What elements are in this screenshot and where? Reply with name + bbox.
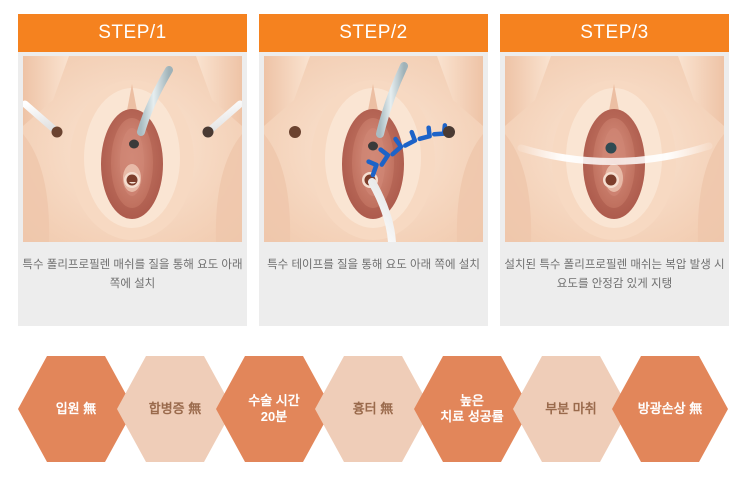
benefit-label-4: 흉터 無 [353, 401, 394, 417]
benefit-hexagon-5: 높은 치료 성공률 [414, 356, 530, 462]
benefit-hexagon-4: 흉터 無 [315, 356, 431, 462]
step1-anatomy-illustration [23, 56, 242, 242]
benefit-label-1: 입원 無 [56, 401, 97, 417]
step-header-2: STEP/2 [259, 14, 488, 52]
benefit-label-6: 부분 마취 [545, 401, 596, 417]
step-header-1: STEP/1 [18, 14, 247, 52]
benefit-label-7: 방광손상 無 [638, 401, 702, 417]
benefit-hexagon-3: 수술 시간 20분 [216, 356, 332, 462]
step-caption-2: 특수 테이프를 질을 통해 요도 아래 쪽에 설치 [259, 242, 488, 326]
step-caption-1: 특수 폴리프로필렌 매쉬를 질을 통해 요도 아래 쪽에 설치 [18, 242, 247, 326]
benefit-hexagon-1: 입원 無 [18, 356, 134, 462]
infographic-page: STEP/1 [0, 0, 748, 492]
benefit-hexagon-row: 입원 無 합병증 無 수술 시간 20분 흉터 無 높은 치료 성공률 부분 마… [18, 356, 730, 462]
benefit-hexagon-7: 방광손상 無 [612, 356, 728, 462]
step-caption-text-3: 설치된 특수 폴리프로필렌 매쉬는 복압 발생 시 요도를 안정감 있게 지탱 [500, 256, 729, 294]
benefit-label-3: 수술 시간 20분 [248, 393, 299, 426]
step-header-label-3: STEP/3 [580, 22, 648, 44]
benefit-hexagon-2: 합병증 無 [117, 356, 233, 462]
step-card-row: STEP/1 [18, 14, 730, 326]
step-card-1: STEP/1 [18, 14, 247, 326]
step-caption-3: 설치된 특수 폴리프로필렌 매쉬는 복압 발생 시 요도를 안정감 있게 지탱 [500, 242, 729, 326]
step-caption-text-1: 특수 폴리프로필렌 매쉬를 질을 통해 요도 아래 쪽에 설치 [18, 256, 247, 294]
step-header-3: STEP/3 [500, 14, 729, 52]
step-header-label-1: STEP/1 [98, 22, 166, 44]
step-header-label-2: STEP/2 [339, 22, 407, 44]
step-caption-text-2: 특수 테이프를 질을 통해 요도 아래 쪽에 설치 [267, 256, 480, 275]
step-card-3: STEP/3 [500, 14, 729, 326]
step3-anatomy-illustration [505, 56, 724, 242]
step2-anatomy-illustration [264, 56, 483, 242]
benefit-hexagon-6: 부분 마취 [513, 356, 629, 462]
benefit-label-5: 높은 치료 성공률 [440, 393, 503, 426]
step-card-2: STEP/2 [259, 14, 488, 326]
benefit-label-2: 합병증 無 [149, 401, 202, 417]
